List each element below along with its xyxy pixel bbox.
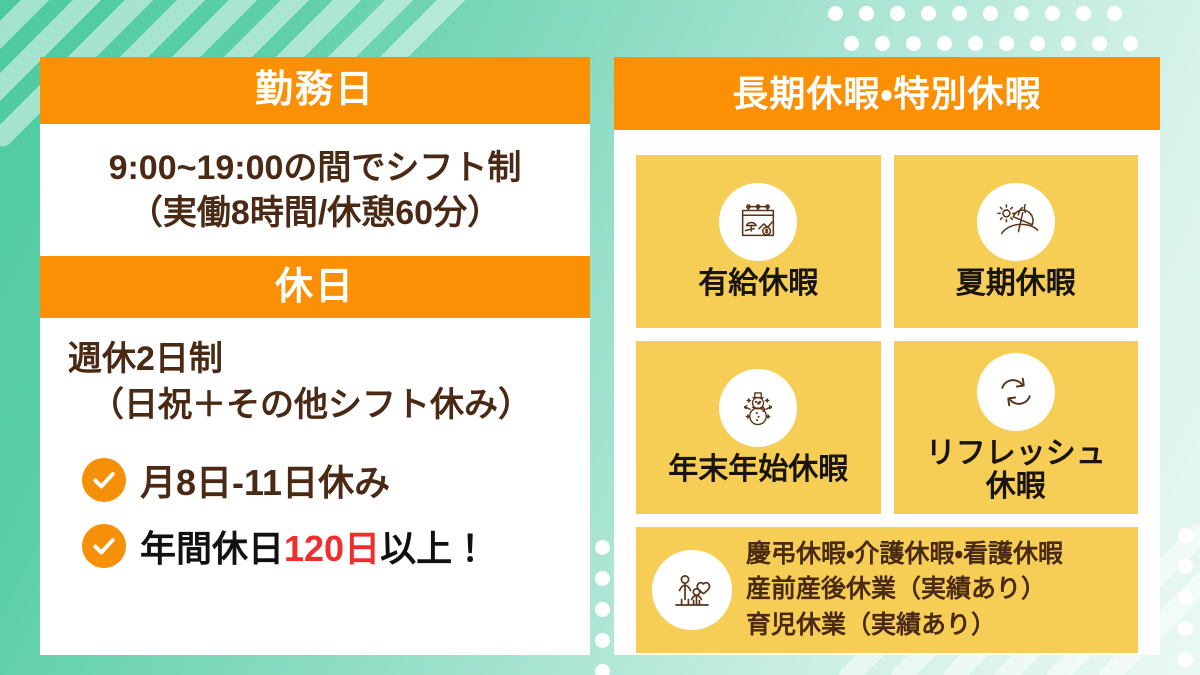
decorative-dot: [595, 540, 610, 555]
workdays-body: 9:00~19:00の間でシフト制 （実働8時間/休憩60分）: [40, 124, 590, 256]
decorative-dot: [890, 6, 905, 21]
refresh-arrows-icon: [977, 353, 1055, 431]
leave-card-paid[interactable]: 有給休暇: [636, 155, 881, 328]
decorative-dot: [1178, 559, 1193, 574]
decorative-dot: [952, 6, 967, 21]
decorative-dot: [1178, 652, 1193, 667]
workdays-line-1: 9:00~19:00の間でシフト制: [54, 146, 576, 191]
leave-card-label: 年末年始休暇: [668, 453, 848, 486]
check-item-label: 月8日-11日休み: [140, 454, 390, 506]
leave-types-panel: 長期休暇・特別休暇: [614, 57, 1160, 655]
decorative-dot: [937, 36, 952, 51]
annual-holidays-count: 120日: [284, 528, 380, 569]
leave-card-summer[interactable]: 夏期休暇: [894, 155, 1139, 328]
holiday-highlights-list: 月8日-11日休み 年間休日120日以上！: [54, 454, 576, 572]
decorative-dot: [1014, 6, 1029, 21]
leave-card-newyear[interactable]: 年末年始休暇: [636, 341, 881, 514]
work-schedule-panel: 勤務日 9:00~19:00の間でシフト制 （実働8時間/休憩60分） 休日 週…: [40, 57, 590, 655]
annual-holidays-suffix: 以上！: [380, 528, 488, 569]
decorative-dot: [844, 36, 859, 51]
check-circle-icon: [82, 458, 126, 502]
workdays-text: 9:00~19:00の間でシフト制 （実働8時間/休憩60分）: [54, 124, 576, 256]
paid-leave-calendar-icon: [719, 183, 797, 261]
decorative-dot: [1061, 36, 1076, 51]
family-leave-line-2: 産前産後休業（実績あり）: [746, 572, 1063, 608]
infographic-canvas: 勤務日 9:00~19:00の間でシフト制 （実働8時間/休憩60分） 休日 週…: [0, 0, 1200, 675]
decorative-dot: [595, 602, 610, 617]
decorative-dot: [1123, 36, 1138, 51]
decorative-dot: [828, 6, 843, 21]
decorative-dot: [921, 6, 936, 21]
family-leave-line-1: 慶弔休暇・介護休暇・看護休暇: [746, 537, 1063, 573]
leave-card-label: 有給休暇: [698, 267, 818, 300]
leave-card-family[interactable]: 慶弔休暇・介護休暇・看護休暇 産前産後休業（実績あり） 育児休業（実績あり）: [636, 527, 1138, 653]
leave-types-header: 長期休暇・特別休暇: [614, 57, 1160, 130]
family-leave-text: 慶弔休暇・介護休暇・看護休暇 産前産後休業（実績あり） 育児休業（実績あり）: [746, 537, 1063, 644]
decorative-dot: [595, 633, 610, 648]
holidays-text: 週休2日制 （日祝＋その他シフト休み）: [54, 318, 576, 428]
holidays-header: 休日: [40, 256, 590, 318]
decorative-dot: [1030, 36, 1045, 51]
decorative-dot: [968, 36, 983, 51]
list-item: 月8日-11日休み: [82, 454, 576, 506]
decorative-dot: [859, 6, 874, 21]
decorative-dot: [983, 6, 998, 21]
decorative-dot: [875, 36, 890, 51]
decorative-dot: [1045, 6, 1060, 21]
family-heart-icon: [652, 550, 732, 630]
family-leave-line-3: 育児休業（実績あり）: [746, 608, 1063, 644]
holidays-line-1: 週休2日制: [68, 336, 576, 382]
leave-card-label: リフレッシュ 休暇: [926, 437, 1106, 503]
decorative-dot: [595, 571, 610, 586]
annual-holidays-prefix: 年間休日: [140, 528, 284, 569]
decorative-dot: [1076, 6, 1091, 21]
check-circle-icon: [82, 524, 126, 568]
workdays-line-2: （実働8時間/休憩60分）: [54, 191, 576, 236]
list-item: 年間休日120日以上！: [82, 520, 576, 572]
decorative-dot: [1107, 6, 1122, 21]
decorative-dot: [999, 36, 1014, 51]
check-item-label: 年間休日120日以上！: [140, 520, 488, 572]
decorative-dot: [1178, 621, 1193, 636]
beach-umbrella-sun-icon: [977, 183, 1055, 261]
workdays-header: 勤務日: [40, 57, 590, 124]
leave-card-label: 夏期休暇: [956, 267, 1076, 300]
decorative-dot: [1178, 590, 1193, 605]
decorative-dot: [595, 664, 610, 675]
leave-card-grid: 有給休暇 夏期休暇: [614, 130, 1160, 514]
leave-card-refresh[interactable]: リフレッシュ 休暇: [894, 341, 1139, 514]
holidays-line-2: （日祝＋その他シフト休み）: [68, 382, 576, 428]
decorative-dot: [906, 36, 921, 51]
decorative-dot: [1178, 528, 1193, 543]
snowman-icon: [719, 369, 797, 447]
decorative-dot: [1092, 36, 1107, 51]
holidays-body: 週休2日制 （日祝＋その他シフト休み） 月8日-11日休み: [40, 318, 590, 572]
